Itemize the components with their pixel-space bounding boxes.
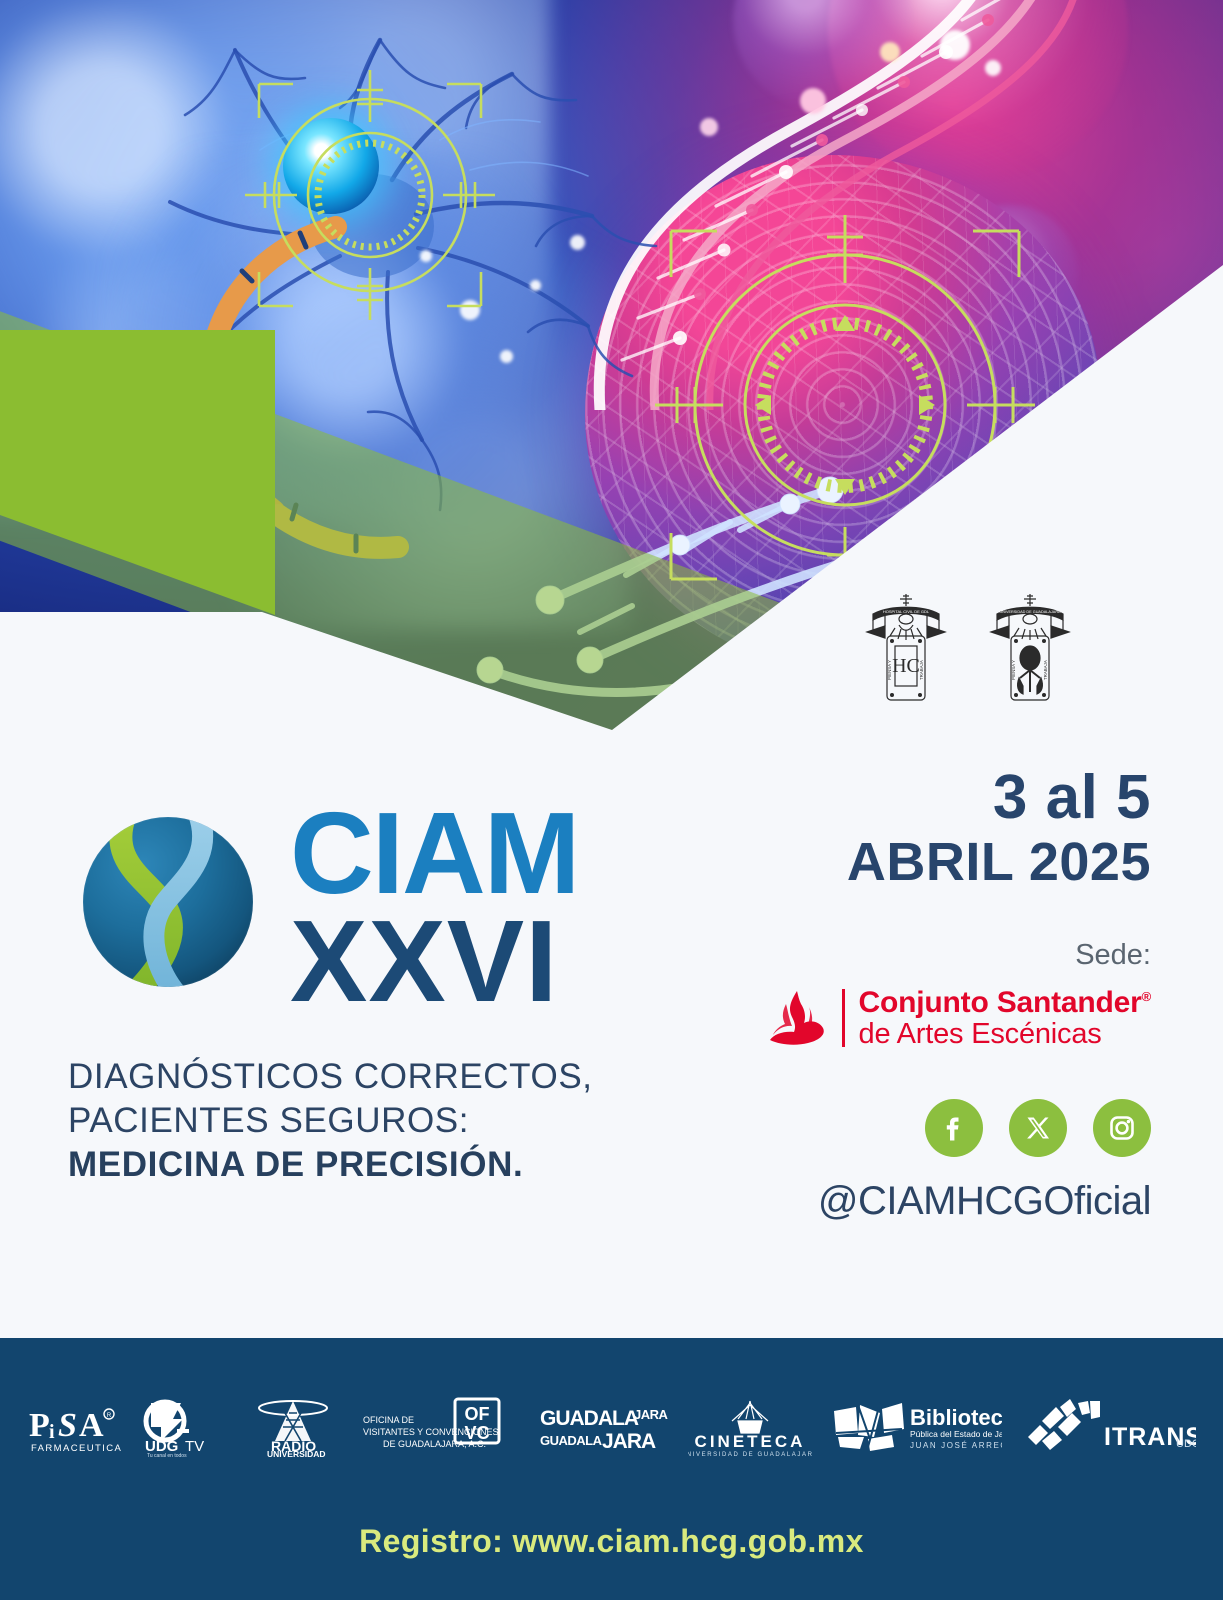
registration-link[interactable]: Registro: www.ciam.hcg.gob.mx	[0, 1523, 1223, 1560]
bokeh-dot	[700, 118, 718, 136]
bokeh-dot	[500, 350, 513, 363]
venue-label: Sede:	[751, 939, 1151, 972]
seal-universidad-guadalajara: PIENSA Y TRABAJA UNIVERSIDAD DE GUADALAJ…	[989, 592, 1071, 710]
svg-text:TRABAJA: TRABAJA	[1043, 660, 1048, 680]
tagline-line-3: MEDICINA DE PRECISIÓN.	[68, 1143, 668, 1187]
svg-text:PIENSA Y: PIENSA Y	[887, 660, 892, 680]
event-date-days: 3 al 5	[751, 765, 1151, 830]
brand-edition: XXVI	[290, 908, 578, 1015]
svg-text:OF: OF	[465, 1404, 490, 1424]
svg-text:VISITANTES Y CONVENCIONES: VISITANTES Y CONVENCIONES	[363, 1427, 499, 1437]
svg-text:UNIVERSIDAD: UNIVERSIDAD	[267, 1449, 326, 1459]
venue-logo-lockup: Conjunto Santander® de Artes Escénicas	[751, 986, 1151, 1051]
svg-text:S: S	[58, 1407, 77, 1444]
crosshair-reticle-icon	[655, 215, 1035, 595]
svg-text:GUADALA: GUADALA	[540, 1433, 603, 1448]
sponsor-logos: P i S A R FARMACEUTICA UDG	[0, 1364, 1223, 1492]
sponsor-logo-ofvc: OF VC OFICINA DE VISITANTES Y CONVENCION…	[359, 1397, 519, 1459]
main-content: CIAM XXVI DIAGNÓSTICOS CORRECTOS, PACIEN…	[0, 745, 1223, 1338]
tagline-line-2: PACIENTES SEGUROS:	[68, 1099, 668, 1143]
bokeh-dot	[940, 30, 970, 60]
ciam-wordmark: CIAM XXVI	[290, 800, 578, 1014]
event-tagline: DIAGNÓSTICOS CORRECTOS, PACIENTES SEGURO…	[68, 1055, 668, 1186]
svg-text:Biblioteca: Biblioteca	[910, 1405, 1002, 1430]
svg-text:TV: TV	[185, 1438, 204, 1455]
svg-text:PIENSA Y: PIENSA Y	[1011, 660, 1016, 680]
svg-text:OFICINA DE: OFICINA DE	[363, 1415, 414, 1425]
sponsor-logo-radio-udg: RADIO UNIVERSIDAD	[245, 1397, 341, 1459]
svg-text:HOSPITAL CIVIL DE GDL: HOSPITAL CIVIL DE GDL	[883, 609, 930, 614]
instagram-icon[interactable]	[1093, 1099, 1151, 1157]
santander-flame-icon	[766, 990, 828, 1046]
crosshair-reticle-icon	[245, 70, 495, 320]
x-twitter-icon[interactable]	[1009, 1099, 1067, 1157]
brand-title: CIAM	[290, 804, 578, 904]
venue-registered-mark: ®	[1142, 989, 1151, 1004]
venue-line-1: Conjunto Santander	[859, 986, 1142, 1019]
sponsor-logo-biblioteca: Biblioteca Pública del Estado de Jalisco…	[830, 1399, 1002, 1457]
event-date-month-year: ABRIL 2025	[751, 830, 1151, 895]
svg-text:UNIVERSIDAD DE GUADALAJARA: UNIVERSIDAD DE GUADALAJARA	[688, 1452, 812, 1458]
svg-text:R: R	[107, 1413, 112, 1419]
bokeh-dot	[570, 235, 585, 250]
bokeh-dot	[985, 60, 1001, 76]
bokeh-dot	[800, 88, 826, 114]
bokeh-dot	[880, 42, 900, 62]
tagline-line-1: DIAGNÓSTICOS CORRECTOS,	[68, 1055, 668, 1099]
event-details-column: 3 al 5 ABRIL 2025 Sede: Conjunto Santand	[751, 765, 1151, 1224]
institution-seals: HC PIENSA Y TRABAJA HOSPITAL CIVIL DE GD…	[865, 592, 1071, 710]
svg-text:JARA: JARA	[602, 1430, 656, 1453]
sponsor-logo-pisa: P i S A R FARMACEUTICA	[27, 1400, 123, 1456]
sponsor-logo-cineteca: CINETECA UNIVERSIDAD DE GUADALAJARA	[688, 1397, 812, 1459]
svg-text:JUAN JOSÉ ARREOLA: JUAN JOSÉ ARREOLA	[910, 1441, 1002, 1450]
svg-text:TRABAJA: TRABAJA	[919, 660, 924, 680]
sponsor-logo-itrans: ITRANS UDG	[1020, 1397, 1196, 1459]
svg-text:UDG: UDG	[1176, 1438, 1196, 1450]
brand-lockup: CIAM XXVI	[68, 800, 578, 1014]
svg-text:HC: HC	[892, 655, 920, 677]
sponsor-logo-guadalajara: GUADALA JARA GUADALA JARA	[538, 1403, 670, 1453]
ciam-globe-logo-icon	[68, 800, 268, 1000]
social-links[interactable]	[751, 1099, 1151, 1157]
venue-line-2: de Artes Escénicas	[859, 1019, 1151, 1051]
svg-text:Tu canal en todos: Tu canal en todos	[147, 1453, 187, 1457]
seal-hospital-civil: HC PIENSA Y TRABAJA HOSPITAL CIVIL DE GD…	[865, 592, 947, 710]
svg-text:JARA: JARA	[634, 1407, 669, 1422]
svg-text:GUADALA: GUADALA	[540, 1407, 639, 1430]
svg-text:A: A	[79, 1407, 104, 1444]
sponsor-logo-udgtv: UDG TV Tu canal en todos	[141, 1399, 227, 1457]
svg-text:CINETECA: CINETECA	[694, 1432, 805, 1451]
bokeh-dot	[530, 280, 541, 291]
facebook-icon[interactable]	[925, 1099, 983, 1157]
venue-name: Conjunto Santander® de Artes Escénicas	[859, 986, 1151, 1051]
sponsor-bar: P i S A R FARMACEUTICA UDG	[0, 1338, 1223, 1600]
svg-text:UNIVERSIDAD DE GUADALAJARA: UNIVERSIDAD DE GUADALAJARA	[999, 610, 1061, 614]
svg-text:DE GUADALAJARA, A.C.: DE GUADALAJARA, A.C.	[383, 1439, 486, 1449]
svg-text:Pública del Estado de Jalisco: Pública del Estado de Jalisco	[910, 1429, 1002, 1439]
poster-root: HC PIENSA Y TRABAJA HOSPITAL CIVIL DE GD…	[0, 0, 1223, 1600]
svg-text:i: i	[49, 1421, 55, 1443]
svg-text:P: P	[29, 1407, 50, 1444]
svg-text:FARMACEUTICA: FARMACEUTICA	[31, 1443, 122, 1454]
venue-divider	[842, 989, 845, 1047]
social-handle: @CIAMHCGOficial	[751, 1179, 1151, 1224]
